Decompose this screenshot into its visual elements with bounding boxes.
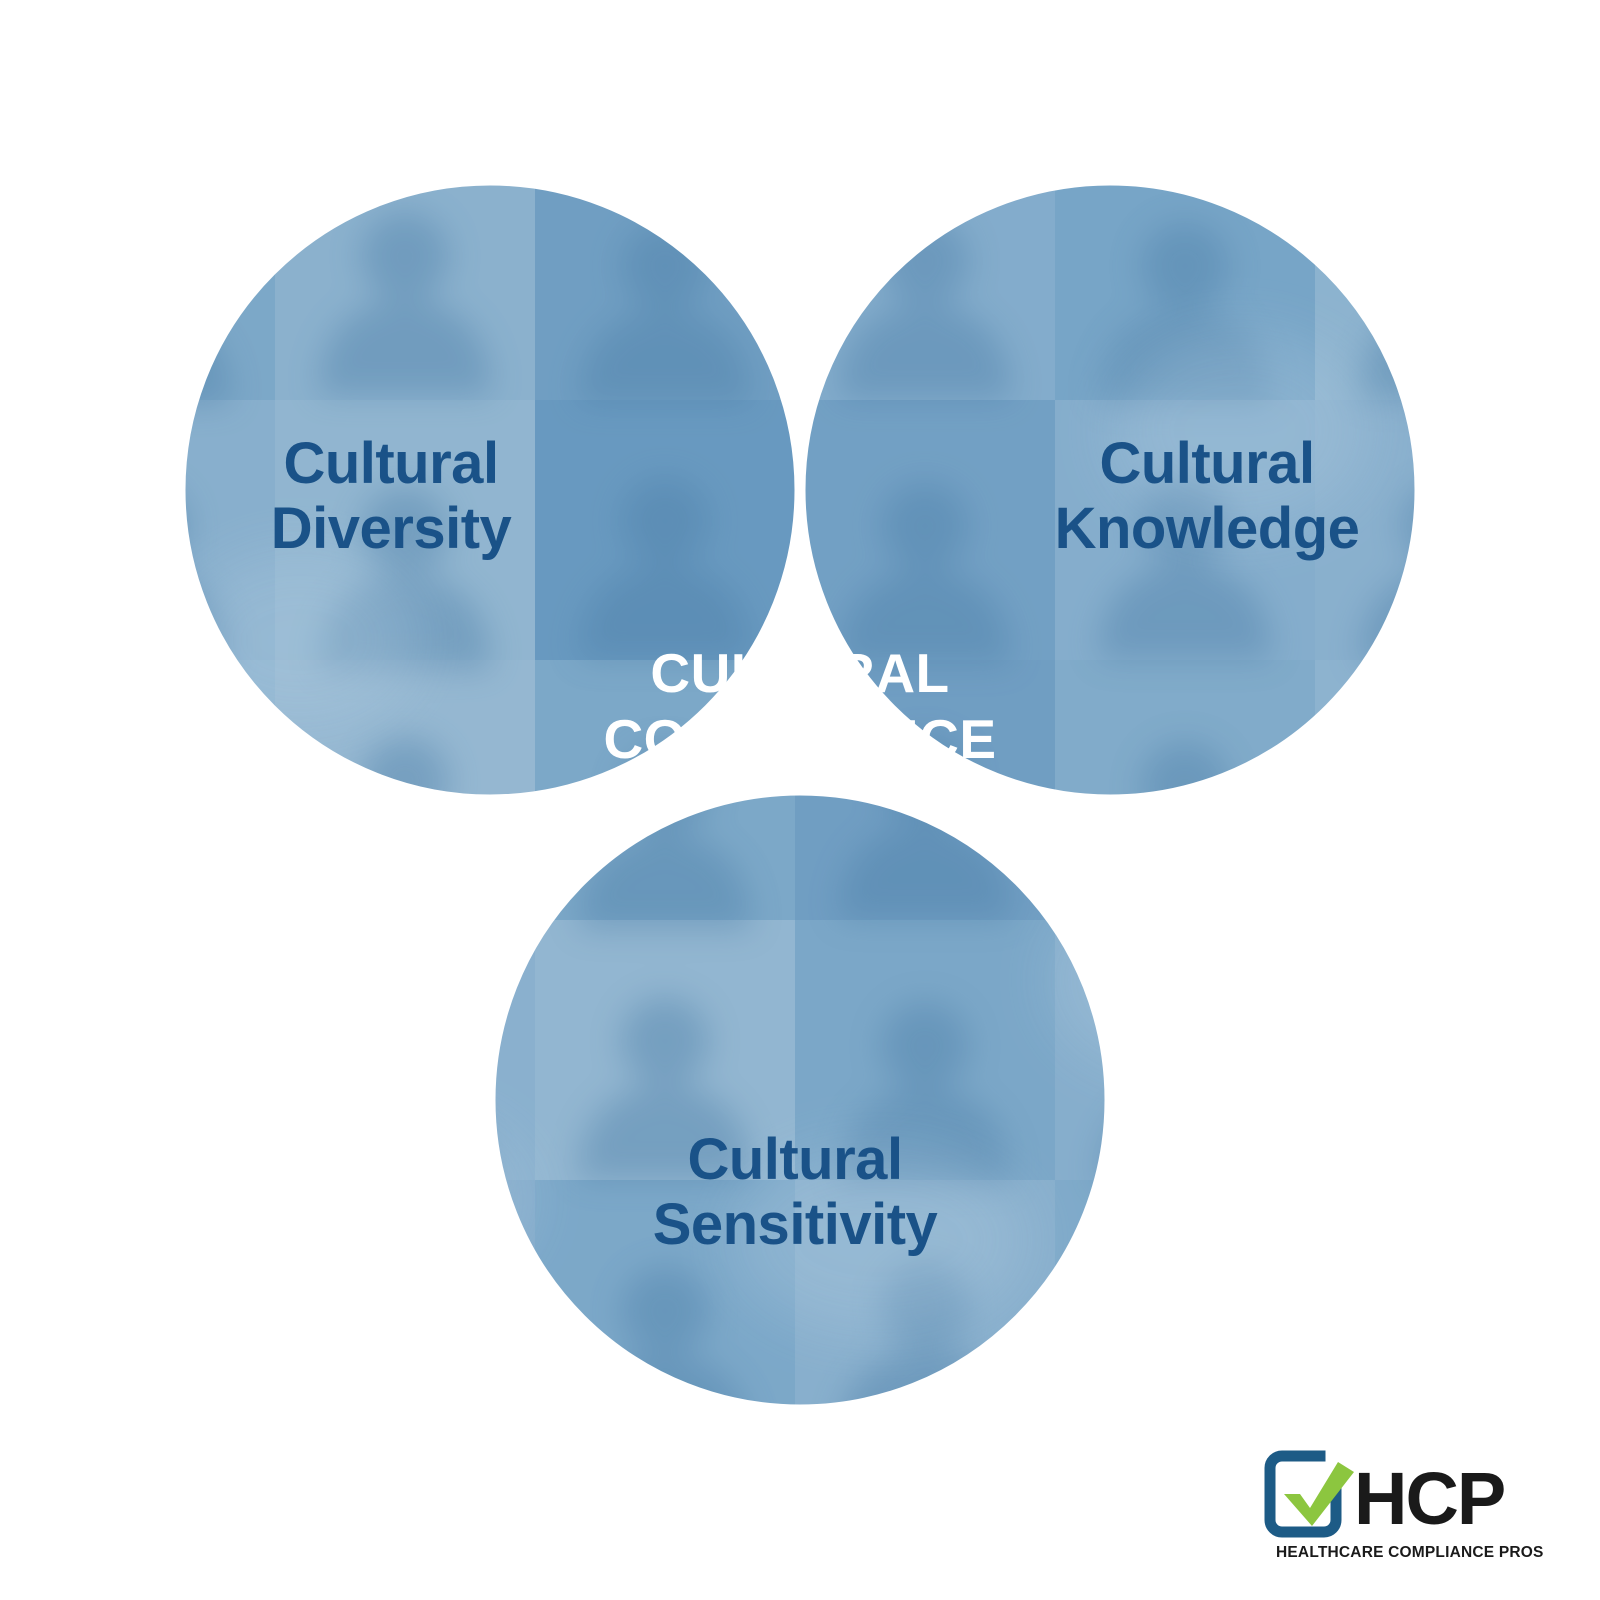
infographic-canvas: Cultural Diversity Cultural Knowledge Cu… [0,0,1600,1600]
overlap-region-center [0,0,1600,1600]
checkmark-icon [1284,1462,1354,1526]
lobe-label-cultural-diversity: Cultural Diversity [196,432,586,562]
logo-wordmark: HCP [1354,1457,1504,1540]
center-label-cultural-competence: CULTURAL COMPETENCE [520,640,1080,772]
venn-diagram [0,0,1600,1600]
logo-tagline: HEALTHCARE COMPLIANCE PROS [1276,1544,1544,1561]
lobe-label-cultural-knowledge: Cultural Knowledge [1012,432,1402,562]
lobe-label-cultural-sensitivity: Cultural Sensitivity [600,1128,990,1258]
hcp-logo: HCP HEALTHCARE COMPLIANCE PROS [1262,1448,1562,1564]
